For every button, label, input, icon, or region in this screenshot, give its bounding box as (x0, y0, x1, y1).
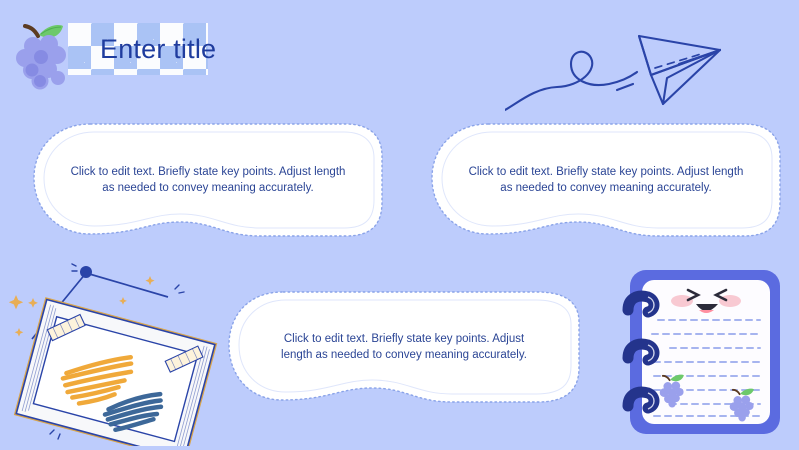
grapes-icon (8, 20, 80, 96)
notebook-icon (614, 266, 796, 446)
title-block[interactable]: Enter title (68, 23, 208, 75)
page-title: Enter title (100, 27, 216, 71)
picture-frame-icon (2, 258, 232, 446)
content-block-1[interactable]: Click to edit text. Briefly state key po… (28, 120, 388, 240)
content-block-3[interactable]: Click to edit text. Briefly state key po… (224, 288, 584, 406)
content-block-3-text: Click to edit text. Briefly state key po… (224, 288, 584, 406)
content-block-2-text: Click to edit text. Briefly state key po… (426, 120, 786, 240)
paper-plane-icon (505, 18, 750, 113)
content-block-2[interactable]: Click to edit text. Briefly state key po… (426, 120, 786, 240)
slide-canvas: Enter title Click to edit text. Briefly … (0, 0, 799, 450)
content-block-1-text: Click to edit text. Briefly state key po… (28, 120, 388, 240)
